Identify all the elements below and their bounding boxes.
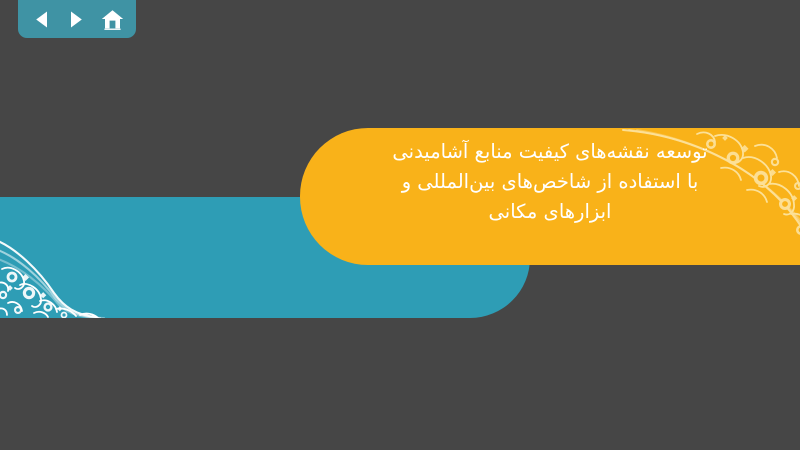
orange-title-panel (300, 128, 800, 265)
arabesque-ornament-teal (0, 223, 128, 318)
slide-navigation-bar (18, 0, 136, 38)
presentation-slide: توسعه نقشه‌های کیفیت منابع آشامیدنی با ا… (0, 0, 800, 450)
next-slide-button[interactable] (64, 6, 90, 32)
home-icon (101, 9, 124, 30)
home-slide-button[interactable] (99, 6, 125, 32)
triangle-left-icon (33, 10, 50, 29)
previous-slide-button[interactable] (28, 6, 54, 32)
arabesque-ornament-orange (615, 128, 800, 253)
triangle-right-icon (68, 10, 85, 29)
